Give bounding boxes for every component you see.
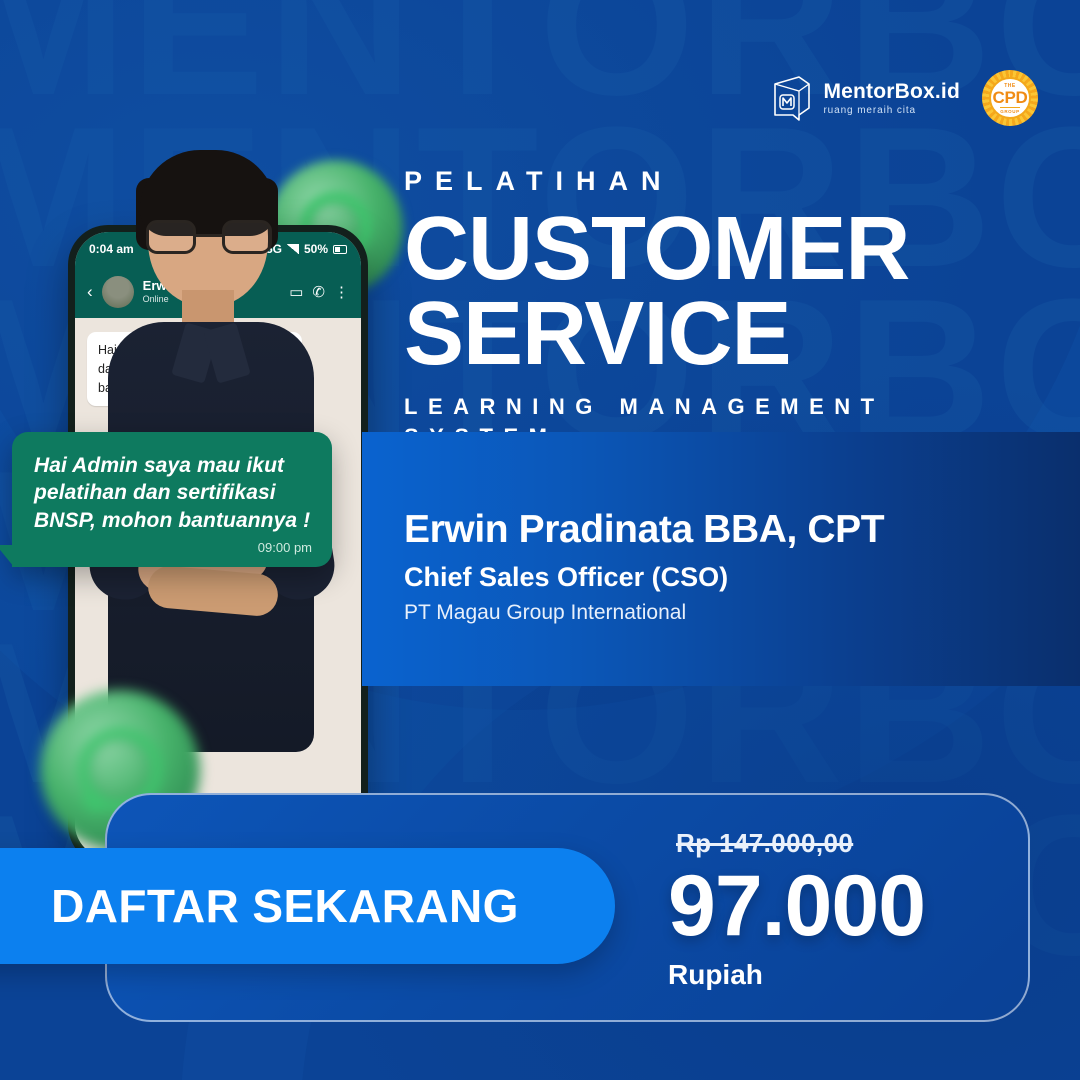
speaker-role: Chief Sales Officer (CSO)	[404, 562, 884, 593]
register-now-label: DAFTAR SEKARANG	[0, 879, 519, 933]
brand-name: MentorBox.id	[823, 81, 960, 102]
register-now-button[interactable]: DAFTAR SEKARANG	[0, 848, 615, 964]
brand-tagline: ruang meraih cita	[823, 106, 960, 116]
title-block: PELATIHAN CUSTOMER SERVICE LEARNING MANA…	[404, 166, 1044, 452]
title-kicker: PELATIHAN	[404, 166, 1044, 197]
speaker-name: Erwin Pradinata BBA, CPT	[404, 508, 884, 552]
highlight-chat-bubble: Hai Admin saya mau ikut pelatihan dan se…	[12, 432, 332, 567]
discounted-price: 97.000	[668, 863, 1008, 949]
cpd-seal-badge: THE CPD GROUP	[982, 70, 1038, 126]
header-logos: MentorBox.id ruang meraih cita THE CPD G…	[772, 70, 1038, 126]
seal-main-text: CPD	[993, 89, 1028, 106]
glasses-icon	[146, 220, 272, 254]
seal-bottom-text: GROUP	[1000, 107, 1020, 114]
price-currency-label: Rupiah	[668, 959, 1008, 991]
title-line-1: CUSTOMER	[404, 207, 1044, 292]
chat-bubble-message: Hai Admin saya mau ikut pelatihan dan se…	[34, 452, 312, 534]
mentorbox-mark-icon	[772, 75, 812, 121]
title-subline-1: LEARNING MANAGEMENT	[404, 392, 1044, 422]
original-price: Rp 147.000,00	[668, 828, 861, 859]
mentorbox-logo: MentorBox.id ruang meraih cita	[772, 75, 960, 121]
speaker-organization: PT Magau Group International	[404, 601, 884, 625]
speaker-band: Erwin Pradinata BBA, CPT Chief Sales Off…	[362, 432, 1080, 686]
price-block: Rp 147.000,00 97.000 Rupiah	[668, 828, 1008, 991]
promo-poster: MENTORBOXMENTORBOXMENTORBOX MENTORBOXMEN…	[0, 0, 1080, 1080]
title-line-2: SERVICE	[404, 292, 1044, 377]
chat-bubble-time: 09:00 pm	[34, 540, 312, 555]
